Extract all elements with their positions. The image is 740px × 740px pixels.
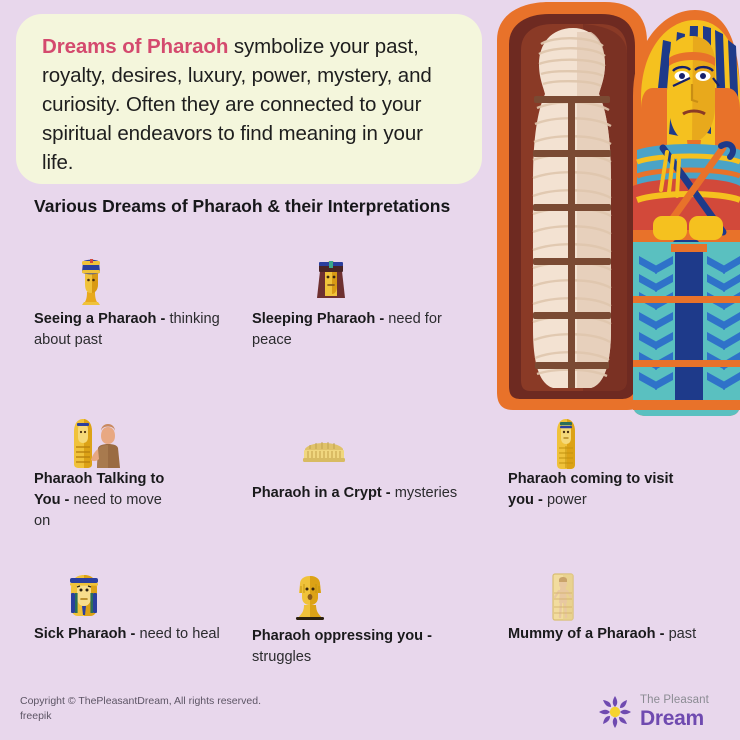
sarcophagus-with-person-icon xyxy=(68,418,182,466)
item-label: Pharaoh coming to visit you - power xyxy=(508,469,688,511)
pharaoh-face-icon xyxy=(314,258,467,306)
golden-sarcophagus-icon xyxy=(550,418,688,466)
item-pharaoh-coming-to-visit-you: Pharaoh coming to visit you - power xyxy=(508,418,688,511)
nefertiti-bust-icon xyxy=(74,258,249,306)
item-desc: need to heal xyxy=(139,626,219,642)
attribution-text: freepik xyxy=(20,709,261,724)
logo-top-text: The Pleasant xyxy=(640,695,709,707)
item-label: Seeing a Pharaoh - thinking about past xyxy=(34,309,249,351)
item-pharaoh-oppressing-you: Pharaoh oppressing you - struggles xyxy=(252,575,467,668)
item-title: Mummy of a Pharaoh - xyxy=(508,626,665,642)
grid-row-3: Sick Pharaoh - need to heal xyxy=(0,573,740,693)
item-pharaoh-in-a-crypt: Pharaoh in a Crypt - mysteries xyxy=(252,432,457,504)
item-title: Pharaoh oppressing you - xyxy=(252,628,432,644)
item-pharaoh-talking-to-you: Pharaoh Talking to You - need to move on xyxy=(34,418,182,532)
sphinx-icon xyxy=(290,575,467,623)
item-desc: struggles xyxy=(252,649,311,665)
item-sick-pharaoh: Sick Pharaoh - need to heal xyxy=(34,573,220,645)
item-title: Sick Pharaoh - xyxy=(34,626,135,642)
intro-highlight: Dreams of Pharaoh xyxy=(42,35,228,58)
intro-paragraph: Dreams of Pharaoh symbolize your past, r… xyxy=(42,32,456,177)
item-desc: power xyxy=(547,492,587,508)
brand-logo: The Pleasant Dream xyxy=(597,692,727,732)
interpretations-grid: Seeing a Pharaoh - thinking about past xyxy=(0,258,740,693)
sun-burst-icon xyxy=(597,694,633,730)
item-label: Mummy of a Pharaoh - past xyxy=(508,624,696,645)
item-desc: past xyxy=(669,626,697,642)
item-sleeping-pharaoh: Sleeping Pharaoh - need for peace xyxy=(252,258,467,351)
infographic-canvas: Dreams of Pharaoh symbolize your past, r… xyxy=(0,0,740,740)
item-label: Pharaoh in a Crypt - mysteries xyxy=(252,483,457,504)
section-heading: Various Dreams of Pharaoh & their Interp… xyxy=(34,194,454,219)
grid-row-1: Seeing a Pharaoh - thinking about past xyxy=(0,258,740,418)
item-title: Sleeping Pharaoh - xyxy=(252,311,384,327)
footer-copyright-block: Copyright © ThePleasantDream, All rights… xyxy=(20,694,261,724)
item-mummy-of-a-pharaoh: Mummy of a Pharaoh - past xyxy=(508,573,696,645)
copyright-text: Copyright © ThePleasantDream, All rights… xyxy=(20,694,261,709)
grid-row-2: Pharaoh Talking to You - need to move on xyxy=(0,418,740,573)
item-seeing-a-pharaoh: Seeing a Pharaoh - thinking about past xyxy=(34,258,249,351)
item-title: Seeing a Pharaoh - xyxy=(34,311,165,327)
mummy-figure-icon xyxy=(548,573,696,621)
logo-bottom-text: Dream xyxy=(640,708,709,729)
item-desc: mysteries xyxy=(395,485,457,501)
tutankhamun-mask-icon xyxy=(64,573,220,621)
item-title: Pharaoh coming to visit you - xyxy=(508,471,673,508)
item-title: Pharaoh in a Crypt - xyxy=(252,485,391,501)
crypt-icon xyxy=(302,432,457,480)
item-label: Pharaoh Talking to You - need to move on xyxy=(34,469,182,532)
logo-wordmark: The Pleasant Dream xyxy=(640,695,709,729)
item-label: Pharaoh oppressing you - struggles xyxy=(252,626,467,668)
item-label: Sick Pharaoh - need to heal xyxy=(34,624,220,645)
intro-card: Dreams of Pharaoh symbolize your past, r… xyxy=(16,14,482,184)
item-label: Sleeping Pharaoh - need for peace xyxy=(252,309,467,351)
